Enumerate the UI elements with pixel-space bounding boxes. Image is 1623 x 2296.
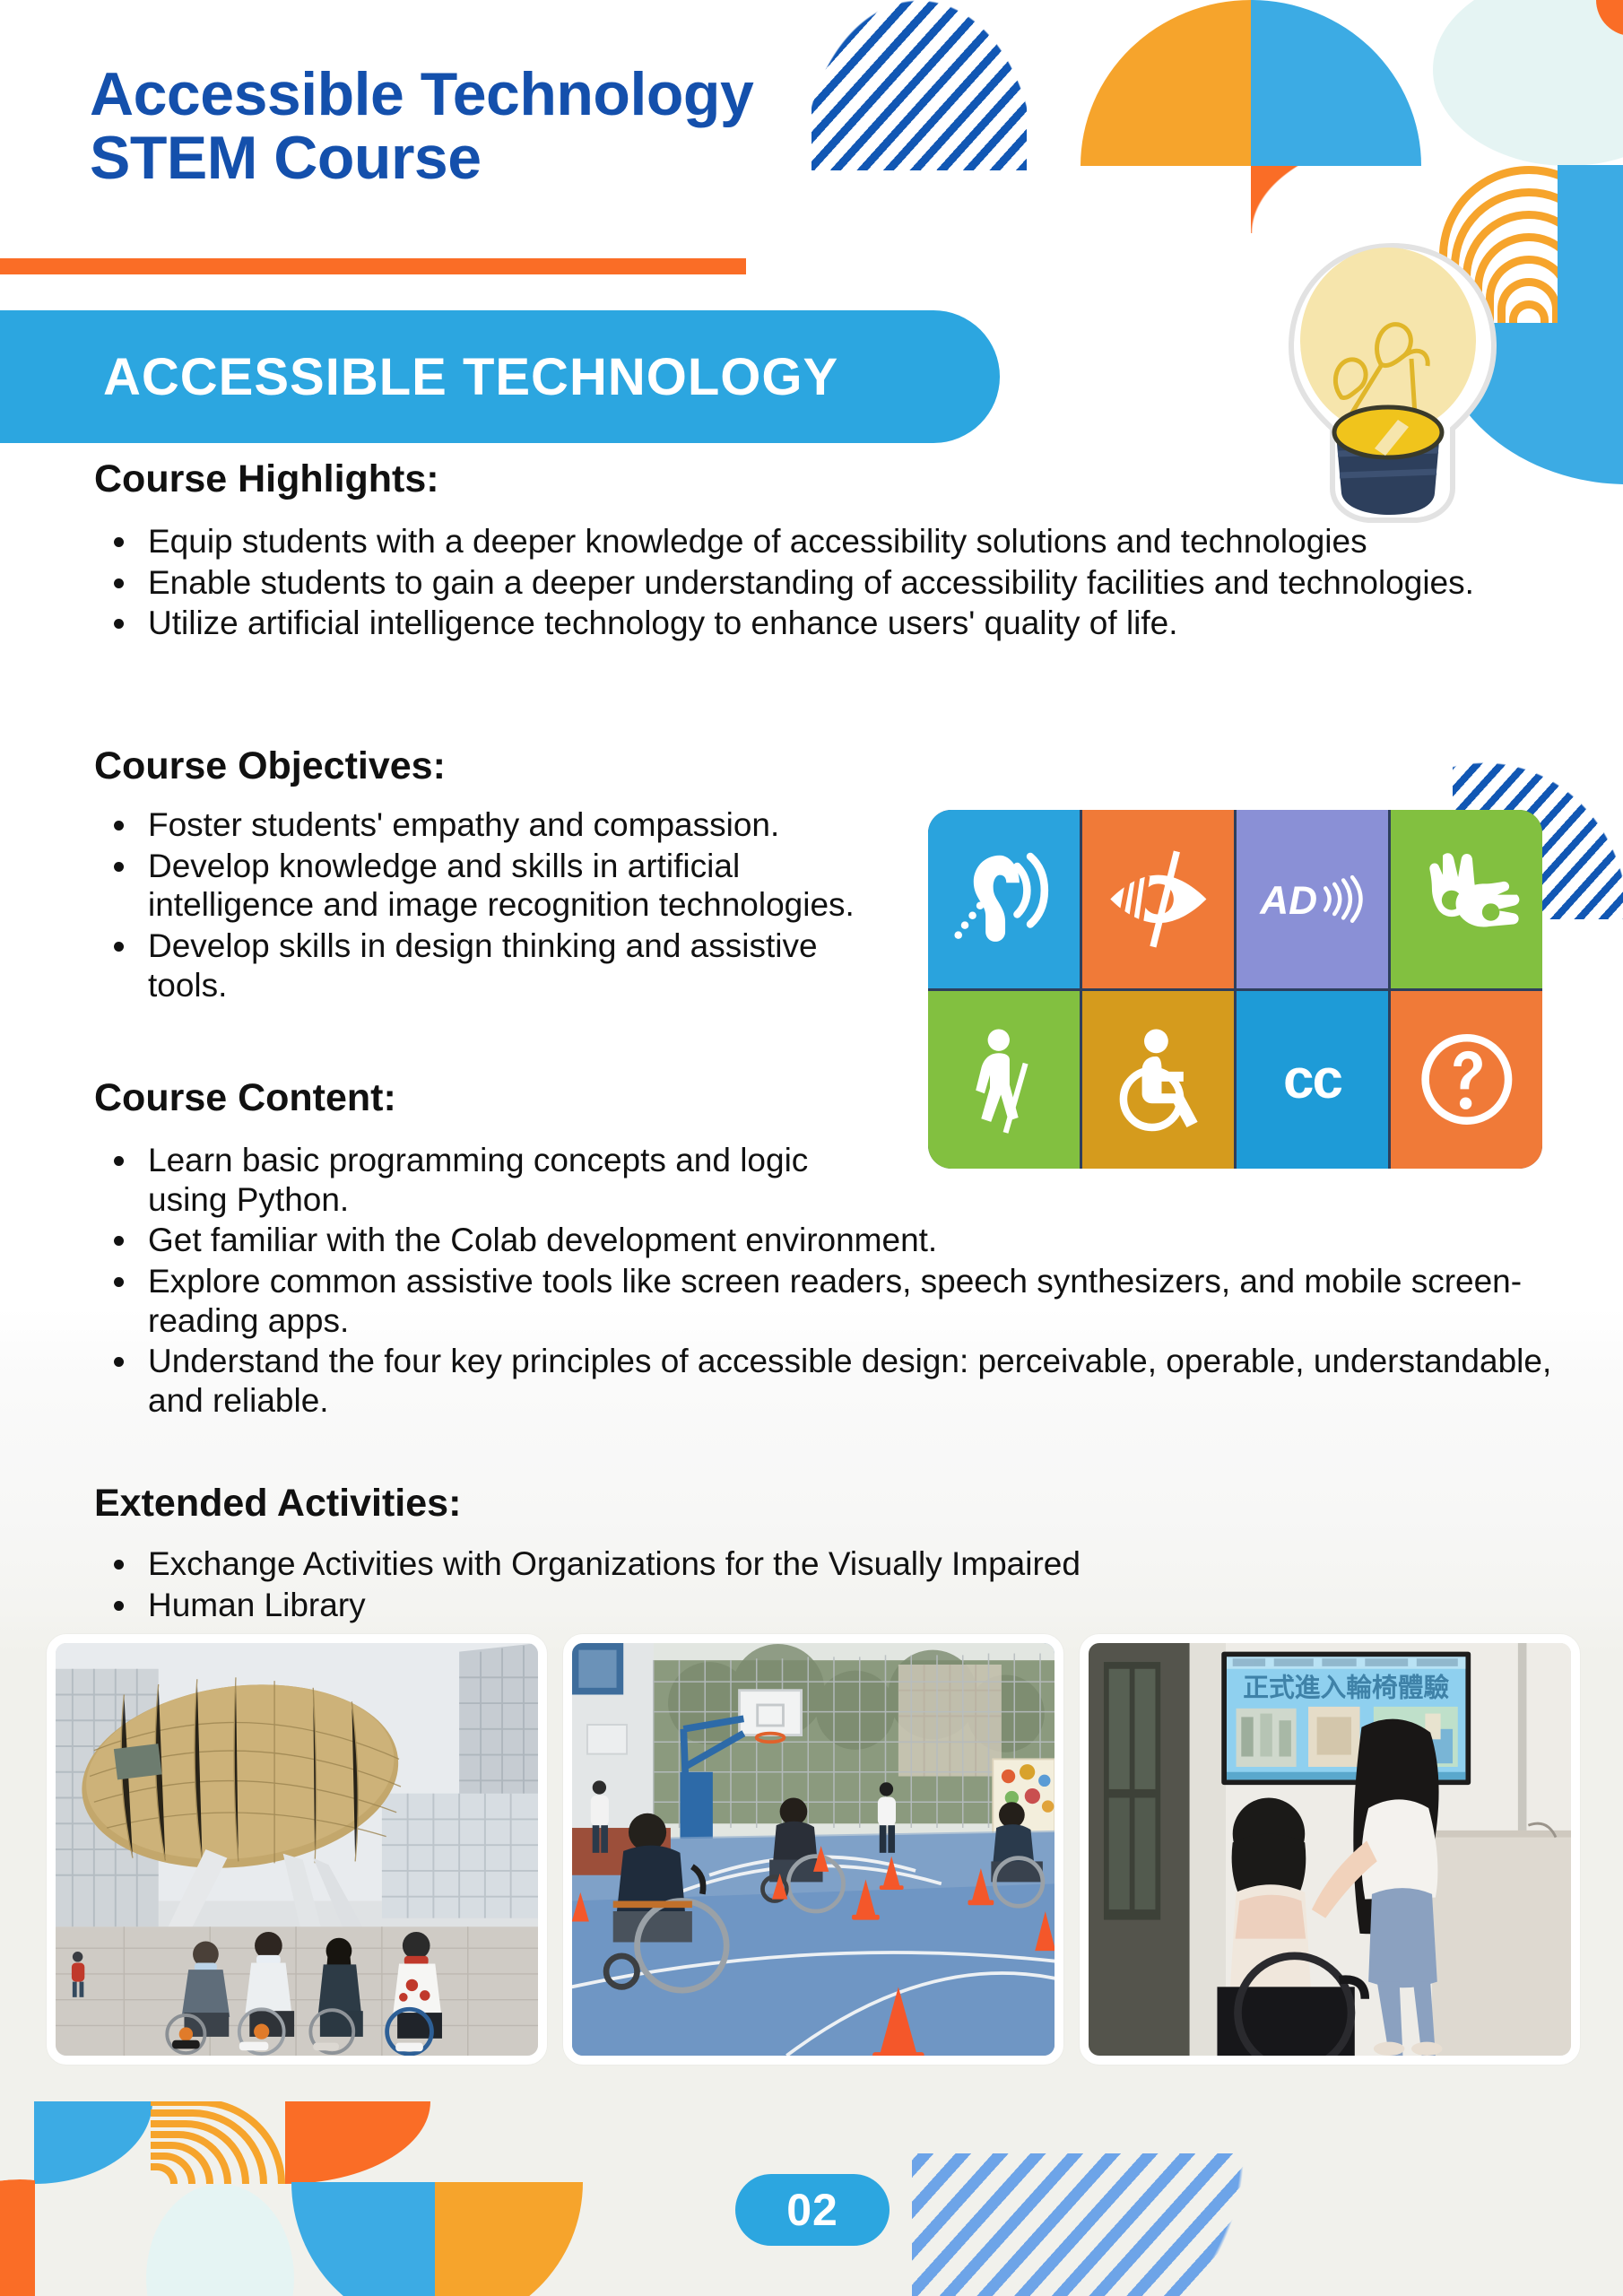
blue-block-decor: [1558, 165, 1623, 326]
assistive-listening-icon: [928, 810, 1080, 988]
list-item: Exchange Activities with Organizations f…: [94, 1544, 1583, 1584]
audio-description-label: AD: [1259, 879, 1317, 923]
wheelchair-icon: [1082, 991, 1234, 1170]
bottom-blue-hatch-decor: [912, 2153, 1253, 2296]
orange-arcs-decor: [1435, 166, 1623, 336]
mint-ellipse-decor: [1433, 0, 1623, 166]
list-course-objectives: Foster students' empathy and compassion.…: [94, 805, 901, 1006]
bottom-orange-arcs-decor: [151, 2101, 285, 2184]
orange-divider: [0, 258, 746, 274]
section-banner: ACCESSIBLE TECHNOLOGY: [0, 310, 1000, 443]
list-item: Develop knowledge and skills in artifici…: [94, 847, 901, 925]
list-item: Learn basic programming concepts and log…: [94, 1141, 883, 1219]
orange-corner-decor: [1251, 166, 1421, 233]
bottom-amber-half-decor: [435, 2182, 583, 2296]
title-line-2: STEM Course: [90, 126, 753, 190]
list-item: Utilize artificial intelligence technolo…: [94, 604, 1565, 643]
information-question-icon: [1391, 991, 1542, 1170]
page-number-label: 02: [786, 2184, 838, 2236]
accessibility-icon-grid: AD: [928, 810, 1542, 1169]
page-number-badge: 02: [735, 2174, 890, 2246]
closed-caption-label: cc: [1283, 1048, 1341, 1111]
blue-hatch-arch-decor: [811, 0, 1027, 170]
banner-label: ACCESSIBLE TECHNOLOGY: [103, 347, 838, 407]
orange-dome-decor: [1081, 0, 1251, 166]
list-item: Get familiar with the Colab development …: [94, 1221, 1583, 1260]
list-course-highlights: Equip students with a deeper knowledge o…: [94, 522, 1565, 645]
list-item: Equip students with a deeper knowledge o…: [94, 522, 1565, 561]
list-item: Human Library: [94, 1586, 1583, 1625]
bottom-orange-circle-decor: [0, 2179, 145, 2296]
list-item: Understand the four key principles of ac…: [94, 1342, 1583, 1420]
heading-course-content: Course Content:: [94, 1076, 396, 1120]
bottom-blue-quarter-decor: [34, 2101, 152, 2184]
list-course-content: Learn basic programming concepts and log…: [94, 1141, 1583, 1422]
screen-text: 正式進入輪椅體驗: [1243, 1672, 1449, 1702]
list-extended-activities: Exchange Activities with Organizations f…: [94, 1544, 1583, 1626]
blind-cane-icon: [928, 991, 1080, 1170]
heading-extended-activities: Extended Activities:: [94, 1482, 461, 1526]
list-item: Develop skills in design thinking and as…: [94, 926, 901, 1004]
audio-description-icon: AD: [1237, 810, 1388, 988]
bottom-mint-ellipse-decor: [146, 2184, 294, 2296]
photo-science-park-wheelchair-group: [47, 1634, 547, 2065]
title-line-1: Accessible Technology: [90, 63, 753, 126]
list-item: Foster students' empathy and compassion.: [94, 805, 901, 845]
photo-wheelchair-experience-session: 正式進入輪椅體驗: [1080, 1634, 1580, 2065]
heading-course-highlights: Course Highlights:: [94, 457, 439, 501]
closed-caption-icon: cc: [1237, 991, 1388, 1170]
blue-quarter-decor: [1435, 323, 1623, 484]
page-title: Accessible Technology STEM Course: [90, 63, 753, 189]
bottom-orange-quarter-decor: [285, 2101, 430, 2184]
blue-dome-decor: [1251, 0, 1421, 166]
photo-gallery: 正式進入輪椅體驗: [47, 1634, 1580, 2065]
sign-language-icon: [1391, 810, 1542, 988]
poster-page: Accessible Technology STEM Course ACCESS…: [0, 0, 1623, 2296]
list-item: Enable students to gain a deeper underst…: [94, 563, 1565, 603]
bottom-blue-half-decor: [291, 2182, 435, 2296]
list-item: Explore common assistive tools like scre…: [94, 1262, 1583, 1340]
photo-wheelchair-basketball-court: [563, 1634, 1063, 2065]
lightbulb-icon: [1280, 240, 1505, 527]
low-vision-icon: [1082, 810, 1234, 988]
heading-course-objectives: Course Objectives:: [94, 744, 446, 788]
orange-sliver-decor: [1596, 0, 1623, 36]
